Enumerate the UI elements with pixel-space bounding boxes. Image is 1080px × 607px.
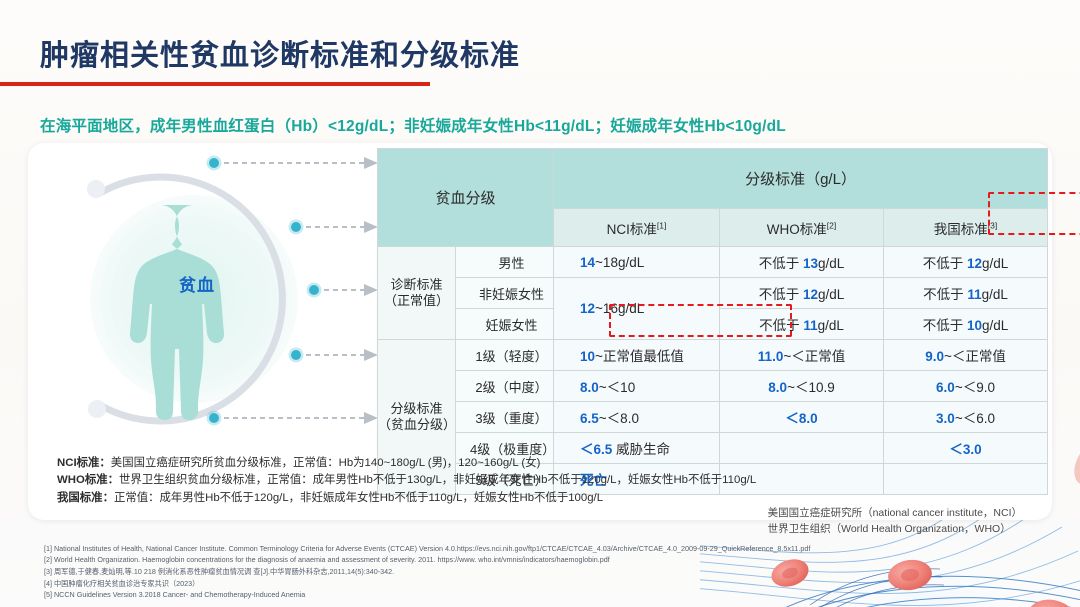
cell-china-grade-2-rest: ~＜9.0 bbox=[955, 380, 995, 395]
table-row: 诊断标准 （正常值） 男性 14~18g/dL 不低于 13g/dL 不低于 1… bbox=[378, 247, 1048, 278]
cell-nci-male-unit: ~18g/dL bbox=[595, 255, 644, 270]
cell-who-nonpregnant-value: 12 bbox=[803, 287, 818, 302]
row-label-male: 男性 bbox=[456, 247, 554, 278]
cell-nci-grade-2-rest: ~＜10 bbox=[599, 380, 635, 395]
standards-notes: NCI标准：美国国立癌症研究所贫血分级标准，正常值：Hb为140~180g/L … bbox=[57, 455, 756, 507]
reference-list: [1] National Institutes of Health, Natio… bbox=[44, 543, 810, 601]
organisation-attribution: 美国国立癌症研究所（national cancer institute，NCI）… bbox=[768, 506, 1022, 538]
title-block: 肿瘤相关性贫血诊断标准和分级标准 bbox=[0, 40, 1080, 86]
header-anemia-grade: 贫血分级 bbox=[378, 149, 554, 247]
cell-who-grade-3-value: ＜8.0 bbox=[785, 411, 817, 426]
table-header-row-1: 贫血分级 分级标准（g/L） bbox=[378, 149, 1048, 209]
cell-china-nonpregnant-female: 不低于 11g/dL bbox=[884, 278, 1048, 309]
note-who-key: WHO标准： bbox=[57, 474, 119, 486]
cell-china-grade-1-rest: ~＜正常值 bbox=[944, 349, 1006, 364]
note-nci-key: NCI标准： bbox=[57, 457, 111, 469]
reference-item[interactable]: [2] World Health Organization. Haemoglob… bbox=[44, 554, 810, 566]
header-who-standard: WHO标准[2] bbox=[720, 209, 884, 247]
note-who: WHO标准：世界卫生组织贫血分级标准，正常值：成年男性Hb不低于130g/L，非… bbox=[57, 472, 756, 489]
header-nci-label: NCI标准 bbox=[607, 222, 657, 237]
page-title: 肿瘤相关性贫血诊断标准和分级标准 bbox=[40, 40, 1080, 73]
section-label-grading-line1: 分级标准 bbox=[378, 401, 455, 417]
cell-who-grade-3: ＜8.0 bbox=[720, 402, 884, 433]
cell-china-grade-3-value: 3.0 bbox=[936, 411, 955, 426]
row-label-grade-2: 2级（中度） bbox=[456, 371, 554, 402]
table-row: 2级（中度） 8.0~＜10 8.0~＜10.9 6.0~＜9.0 bbox=[378, 371, 1048, 402]
cell-nci-grade-2: 8.0~＜10 bbox=[554, 371, 720, 402]
cell-china-male-unit: g/dL bbox=[982, 256, 1008, 271]
header-who-ref: [2] bbox=[827, 220, 836, 230]
table-row: 3级（重度） 6.5~＜8.0 ＜8.0 3.0~＜6.0 bbox=[378, 402, 1048, 433]
cell-china-pregnant-female: 不低于 10g/dL bbox=[884, 309, 1048, 340]
cell-who-grade-2: 8.0~＜10.9 bbox=[720, 371, 884, 402]
cell-who-male-value: 13 bbox=[803, 256, 818, 271]
cell-who-nonpregnant-unit: g/dL bbox=[818, 287, 844, 302]
reference-item: [4] 中国肿瘤化疗相关贫血诊治专家共识（2023） bbox=[44, 578, 810, 590]
attribution-who: 世界卫生组织（World Health Organization，WHO） bbox=[768, 522, 1022, 538]
section-label-grading-line2: （贫血分级） bbox=[378, 417, 455, 433]
cell-who-grade-1-value: 11.0 bbox=[758, 349, 784, 364]
illustration-label: 贫血 bbox=[179, 271, 215, 296]
cell-nci-grade-1-value: 10 bbox=[580, 349, 595, 364]
cell-china-grade-2-value: 6.0 bbox=[936, 380, 955, 395]
row-label-grade-1: 1级（轻度） bbox=[456, 340, 554, 371]
cell-who-male-prefix: 不低于 bbox=[759, 256, 803, 271]
header-nci-standard: NCI标准[1] bbox=[554, 209, 720, 247]
cell-china-pregnant-unit: g/dL bbox=[982, 318, 1008, 333]
cell-china-grade-5 bbox=[884, 464, 1048, 495]
grading-table-wrapper: 贫血分级 分级标准（g/L） NCI标准[1] WHO标准[2] 我国标准[3] bbox=[377, 148, 1047, 495]
cell-china-pregnant-value: 10 bbox=[967, 318, 982, 333]
cell-who-grade-1: 11.0~＜正常值 bbox=[720, 340, 884, 371]
cell-nci-grade-1: 10~正常值最低值 bbox=[554, 340, 720, 371]
note-nci: NCI标准：美国国立癌症研究所贫血分级标准，正常值：Hb为140~180g/L … bbox=[57, 455, 756, 472]
cell-who-pregnant-female: 不低于 11g/dL bbox=[720, 309, 884, 340]
row-label-grade-3: 3级（重度） bbox=[456, 402, 554, 433]
section-label-diagnostic-line1: 诊断标准 bbox=[378, 277, 455, 293]
cell-china-nonpregnant-prefix: 不低于 bbox=[923, 287, 967, 302]
cell-nci-male: 14~18g/dL bbox=[554, 247, 720, 278]
cell-nci-female-value: 12 bbox=[580, 301, 595, 316]
reference-item: [3] 周军德,于健春,麦灿明,等.10 218 例消化系恶性肿瘤贫血情况调 查… bbox=[44, 566, 810, 578]
row-label-nonpregnant-female: 非妊娠女性 bbox=[456, 278, 554, 309]
cell-china-nonpregnant-value: 11 bbox=[967, 287, 981, 302]
header-who-label: WHO标准 bbox=[767, 222, 827, 237]
cell-china-pregnant-prefix: 不低于 bbox=[923, 318, 967, 333]
reference-item[interactable]: [1] National Institutes of Health, Natio… bbox=[44, 543, 810, 555]
cell-who-male-unit: g/dL bbox=[818, 256, 844, 271]
header-grading-standard: 分级标准（g/L） bbox=[554, 149, 1048, 209]
cell-china-nonpregnant-unit: g/dL bbox=[982, 287, 1008, 302]
cell-who-pregnant-value: 11 bbox=[803, 318, 817, 333]
cell-who-male: 不低于 13g/dL bbox=[720, 247, 884, 278]
slide-canvas: 肿瘤相关性贫血诊断标准和分级标准 在海平面地区，成年男性血红蛋白（Hb）<12g… bbox=[0, 0, 1080, 607]
section-label-diagnostic: 诊断标准 （正常值） bbox=[378, 247, 456, 340]
cell-who-nonpregnant-prefix: 不低于 bbox=[759, 287, 803, 302]
header-china-standard: 我国标准[3] bbox=[884, 209, 1048, 247]
table-row: 分级标准 （贫血分级） 1级（轻度） 10~正常值最低值 11.0~＜正常值 9… bbox=[378, 340, 1048, 371]
header-nci-ref: [1] bbox=[657, 220, 666, 230]
reference-item: [5] NCCN Guidelines Version 3.2018 Cance… bbox=[44, 589, 810, 601]
cell-china-grade-1: 9.0~＜正常值 bbox=[884, 340, 1048, 371]
cell-china-grade-2: 6.0~＜9.0 bbox=[884, 371, 1048, 402]
cell-nci-grade-3-rest: ~＜8.0 bbox=[599, 411, 639, 426]
slide-subtitle: 在海平面地区，成年男性血红蛋白（Hb）<12g/dL；非妊娠成年女性Hb<11g… bbox=[40, 114, 786, 136]
anemia-illustration: 贫血 bbox=[34, 147, 386, 457]
header-china-label: 我国标准 bbox=[934, 222, 988, 237]
cell-china-grade-4: ＜3.0 bbox=[884, 433, 1048, 464]
note-nci-text: 美国国立癌症研究所贫血分级标准，正常值：Hb为140~180g/L (男)，12… bbox=[111, 457, 541, 469]
title-underline bbox=[0, 82, 430, 86]
cell-nci-female-unit: ~16g/dL bbox=[595, 301, 644, 316]
cell-who-nonpregnant-female: 不低于 12g/dL bbox=[720, 278, 884, 309]
cell-who-pregnant-prefix: 不低于 bbox=[759, 318, 803, 333]
note-china-key: 我国标准： bbox=[57, 492, 114, 504]
table-row: 非妊娠女性 12~16g/dL 不低于 12g/dL 不低于 11g/dL bbox=[378, 278, 1048, 309]
cell-who-grade-2-value: 8.0 bbox=[768, 380, 787, 395]
cell-who-grade-1-rest: ~＜正常值 bbox=[783, 349, 845, 364]
cell-china-grade-3-rest: ~＜6.0 bbox=[955, 411, 995, 426]
header-china-ref: [3] bbox=[988, 220, 997, 230]
cell-china-male-value: 12 bbox=[967, 256, 982, 271]
cell-china-male-prefix: 不低于 bbox=[923, 256, 967, 271]
section-label-diagnostic-line2: （正常值） bbox=[378, 293, 455, 309]
row-label-pregnant-female: 妊娠女性 bbox=[456, 309, 554, 340]
cell-nci-grade-3-value: 6.5 bbox=[580, 411, 599, 426]
cell-china-grade-3: 3.0~＜6.0 bbox=[884, 402, 1048, 433]
note-china: 我国标准：正常值：成年男性Hb不低于120g/L，非妊娠成年女性Hb不低于110… bbox=[57, 490, 756, 507]
attribution-nci: 美国国立癌症研究所（national cancer institute，NCI） bbox=[768, 506, 1022, 522]
cell-nci-male-value: 14 bbox=[580, 255, 595, 270]
note-china-text: 正常值：成年男性Hb不低于120g/L，非妊娠成年女性Hb不低于110g/L，妊… bbox=[114, 492, 603, 504]
cell-who-grade-2-rest: ~＜10.9 bbox=[787, 380, 835, 395]
cell-nci-grade-1-rest: ~正常值最低值 bbox=[595, 349, 684, 364]
grading-table: 贫血分级 分级标准（g/L） NCI标准[1] WHO标准[2] 我国标准[3] bbox=[377, 148, 1048, 495]
note-who-text: 世界卫生组织贫血分级标准，正常值：成年男性Hb不低于130g/L，非妊娠成年女性… bbox=[119, 474, 756, 486]
cell-china-male: 不低于 12g/dL bbox=[884, 247, 1048, 278]
cell-nci-grade-2-value: 8.0 bbox=[580, 380, 599, 395]
cell-china-grade-4-value: ＜3.0 bbox=[949, 442, 981, 457]
cell-china-grade-1-value: 9.0 bbox=[925, 349, 944, 364]
cell-nci-grade-3: 6.5~＜8.0 bbox=[554, 402, 720, 433]
cell-who-pregnant-unit: g/dL bbox=[818, 318, 844, 333]
cell-nci-female: 12~16g/dL bbox=[554, 278, 720, 340]
